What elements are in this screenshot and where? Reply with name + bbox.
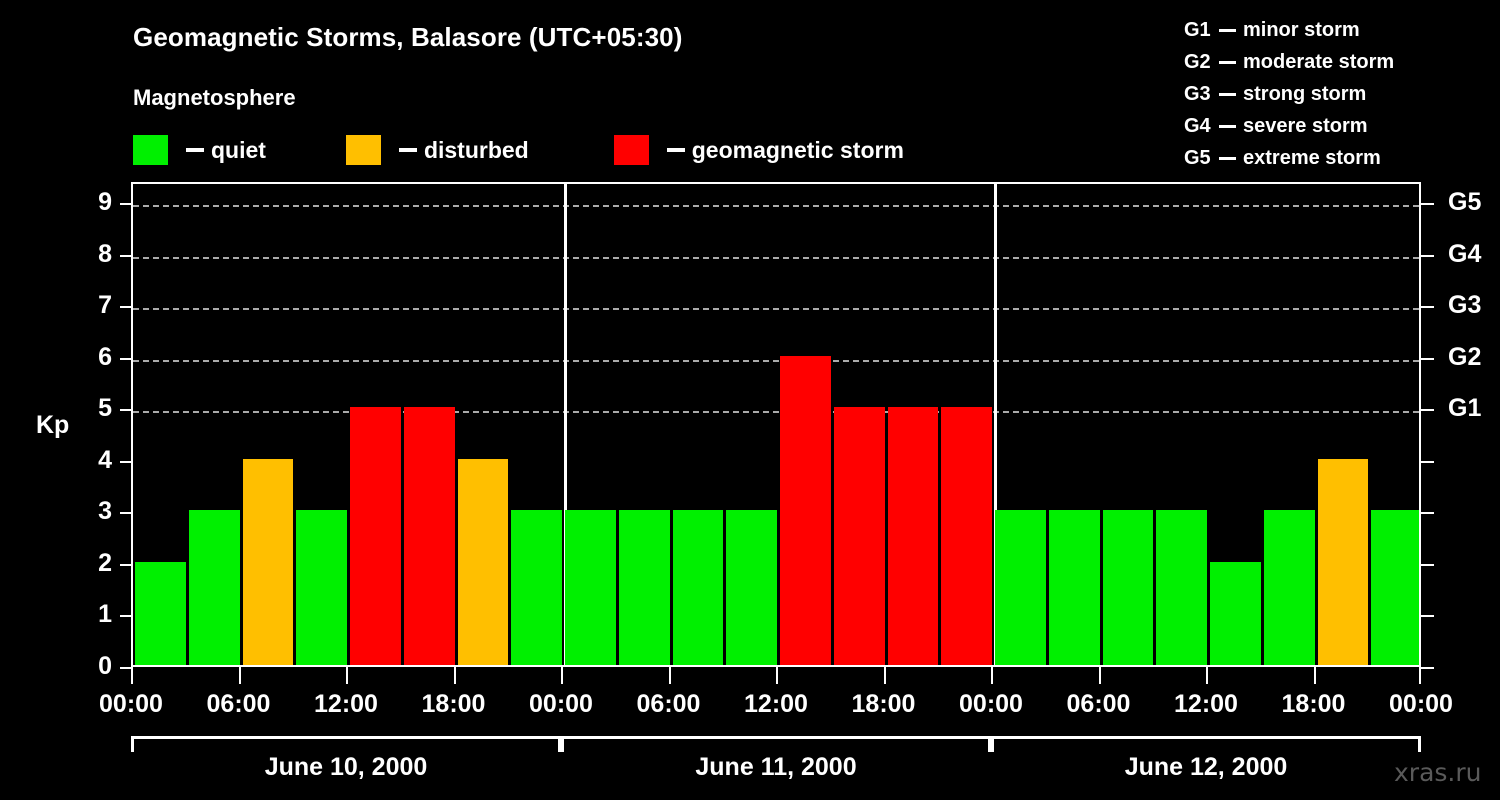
x-axis-tick <box>1206 667 1208 684</box>
g-legend-code: G2 <box>1184 51 1218 74</box>
g-legend-row-g2: G2moderate storm <box>1184 46 1484 78</box>
g-legend-label: extreme storm <box>1243 147 1381 170</box>
x-axis-tick-label: 06:00 <box>609 690 729 719</box>
y-axis-tick-label: 1 <box>72 602 112 627</box>
g-legend-dash-icon <box>1219 93 1236 96</box>
day-bracket <box>131 736 561 752</box>
bar-kp[interactable] <box>995 510 1046 665</box>
day-bracket <box>561 736 991 752</box>
g-legend-dash-icon <box>1219 29 1236 32</box>
bar-kp[interactable] <box>458 459 509 665</box>
g-legend-row-g5: G5extreme storm <box>1184 142 1484 174</box>
bar-kp[interactable] <box>1049 510 1100 665</box>
g-axis-minor-tick <box>1421 512 1434 514</box>
x-axis-tick <box>1099 667 1101 684</box>
bar-kp[interactable] <box>1210 562 1261 665</box>
legend-label-geomagnetic-storm: geomagnetic storm <box>692 137 904 164</box>
bar-kp[interactable] <box>565 510 616 665</box>
page-title: Geomagnetic Storms, Balasore (UTC+05:30) <box>133 22 682 53</box>
x-axis-tick <box>561 667 563 684</box>
gridline-kp-5 <box>133 411 1419 413</box>
bar-kp[interactable] <box>888 407 939 665</box>
g-legend-code: G1 <box>1184 19 1218 42</box>
bar-kp[interactable] <box>780 356 831 665</box>
x-axis-tick-label: 06:00 <box>1039 690 1159 719</box>
bar-kp[interactable] <box>243 459 294 665</box>
legend-label-quiet: quiet <box>211 137 266 164</box>
g-legend-code: G5 <box>1184 147 1218 170</box>
x-axis-tick <box>1314 667 1316 684</box>
gridline-kp-7 <box>133 308 1419 310</box>
x-axis-tick-label: 18:00 <box>824 690 944 719</box>
legend-swatch-geomagnetic-storm <box>614 135 649 165</box>
g-legend-label: severe storm <box>1243 115 1368 138</box>
legend-dash-icon <box>399 148 417 152</box>
y-axis-tick-label: 2 <box>72 551 112 576</box>
x-axis-tick-label: 18:00 <box>394 690 514 719</box>
legend-dash-icon <box>186 148 204 152</box>
bar-kp[interactable] <box>941 407 992 665</box>
legend-swatch-disturbed <box>346 135 381 165</box>
x-axis-tick <box>131 667 133 684</box>
x-axis-tick-label: 06:00 <box>179 690 299 719</box>
x-axis-tick <box>346 667 348 684</box>
y-axis-tick-label: 3 <box>72 499 112 524</box>
g-scale-legend: G1minor stormG2moderate stormG3strong st… <box>1184 14 1484 174</box>
x-axis-tick-label: 12:00 <box>1146 690 1266 719</box>
g-axis-tick-label: G4 <box>1448 242 1494 267</box>
plot-area <box>131 182 1421 667</box>
g-legend-dash-icon <box>1219 125 1236 128</box>
g-axis-minor-tick <box>1421 461 1434 463</box>
bar-kp[interactable] <box>1103 510 1154 665</box>
bar-kp[interactable] <box>189 510 240 665</box>
g-axis-tick-label: G3 <box>1448 293 1494 318</box>
g-legend-label: minor storm <box>1243 19 1360 42</box>
g-axis-tick <box>1421 358 1434 360</box>
x-axis-tick-label: 00:00 <box>1361 690 1481 719</box>
y-axis-tick-label: 9 <box>72 190 112 215</box>
watermark: xras.ru <box>1394 758 1482 787</box>
y-axis-tick-label: 5 <box>72 396 112 421</box>
x-axis-tick <box>454 667 456 684</box>
x-axis-tick-label: 12:00 <box>286 690 406 719</box>
g-legend-label: moderate storm <box>1243 51 1394 74</box>
legend-entry-disturbed: disturbed <box>346 135 529 165</box>
g-legend-dash-icon <box>1219 157 1236 160</box>
legend-entry-geomagnetic-storm: geomagnetic storm <box>614 135 904 165</box>
legend-label-disturbed: disturbed <box>424 137 529 164</box>
g-legend-code: G4 <box>1184 115 1218 138</box>
bar-kp[interactable] <box>726 510 777 665</box>
x-axis-tick-label: 00:00 <box>71 690 191 719</box>
gridline-kp-9 <box>133 205 1419 207</box>
y-axis-tick <box>120 306 131 308</box>
x-axis-tick-label: 12:00 <box>716 690 836 719</box>
gridline-kp-8 <box>133 257 1419 259</box>
g-legend-row-g3: G3strong storm <box>1184 78 1484 110</box>
y-axis-tick-label: 4 <box>72 448 112 473</box>
g-legend-row-g1: G1minor storm <box>1184 14 1484 46</box>
bar-kp[interactable] <box>834 407 885 665</box>
bar-kp[interactable] <box>404 407 455 665</box>
y-axis-tick-label: 6 <box>72 345 112 370</box>
x-axis-tick-label: 00:00 <box>501 690 621 719</box>
gridline-kp-6 <box>133 360 1419 362</box>
bar-kp[interactable] <box>350 407 401 665</box>
x-axis-tick <box>1419 667 1421 684</box>
g-axis-minor-tick <box>1421 667 1434 669</box>
y-axis-tick <box>120 564 131 566</box>
x-axis-tick <box>239 667 241 684</box>
legend-entry-quiet: quiet <box>133 135 266 165</box>
g-axis-tick <box>1421 203 1434 205</box>
x-axis-tick <box>884 667 886 684</box>
y-axis-title: Kp <box>36 411 69 440</box>
x-axis-tick <box>776 667 778 684</box>
bar-kp[interactable] <box>1371 510 1420 665</box>
g-axis-tick <box>1421 255 1434 257</box>
g-axis-tick <box>1421 306 1434 308</box>
g-axis-tick <box>1421 409 1434 411</box>
y-axis-tick <box>120 409 131 411</box>
bar-kp[interactable] <box>511 510 562 665</box>
g-legend-label: strong storm <box>1243 83 1366 106</box>
x-axis-tick-label: 18:00 <box>1254 690 1374 719</box>
day-label: June 10, 2000 <box>131 753 561 782</box>
bar-kp[interactable] <box>1318 459 1369 665</box>
bar-kp[interactable] <box>1156 510 1207 665</box>
bar-kp[interactable] <box>619 510 670 665</box>
g-legend-row-g4: G4severe storm <box>1184 110 1484 142</box>
legend-swatch-quiet <box>133 135 168 165</box>
y-axis-tick-label: 8 <box>72 242 112 267</box>
g-axis-tick-label: G5 <box>1448 190 1494 215</box>
day-label: June 12, 2000 <box>991 753 1421 782</box>
x-axis-tick-label: 00:00 <box>931 690 1051 719</box>
g-axis-tick-label: G2 <box>1448 345 1494 370</box>
y-axis-tick <box>120 358 131 360</box>
chart-subtitle: Magnetosphere <box>133 85 296 111</box>
y-axis-tick <box>120 255 131 257</box>
day-label: June 11, 2000 <box>561 753 991 782</box>
g-legend-code: G3 <box>1184 83 1218 106</box>
x-axis-tick <box>991 667 993 684</box>
g-axis-tick-label: G1 <box>1448 396 1494 421</box>
bar-kp[interactable] <box>135 562 186 665</box>
g-axis-minor-tick <box>1421 564 1434 566</box>
bar-kp[interactable] <box>296 510 347 665</box>
y-axis-tick <box>120 667 131 669</box>
g-axis-minor-tick <box>1421 615 1434 617</box>
x-axis-tick <box>669 667 671 684</box>
y-axis-tick <box>120 512 131 514</box>
y-axis-tick <box>120 203 131 205</box>
y-axis-tick-label: 7 <box>72 293 112 318</box>
g-legend-dash-icon <box>1219 61 1236 64</box>
y-axis-tick <box>120 461 131 463</box>
color-legend: quietdisturbedgeomagnetic storm <box>133 131 904 169</box>
y-axis-tick-label: 0 <box>72 654 112 679</box>
bar-kp[interactable] <box>673 510 724 665</box>
day-bracket <box>991 736 1421 752</box>
legend-dash-icon <box>667 148 685 152</box>
y-axis-tick <box>120 615 131 617</box>
bar-kp[interactable] <box>1264 510 1315 665</box>
